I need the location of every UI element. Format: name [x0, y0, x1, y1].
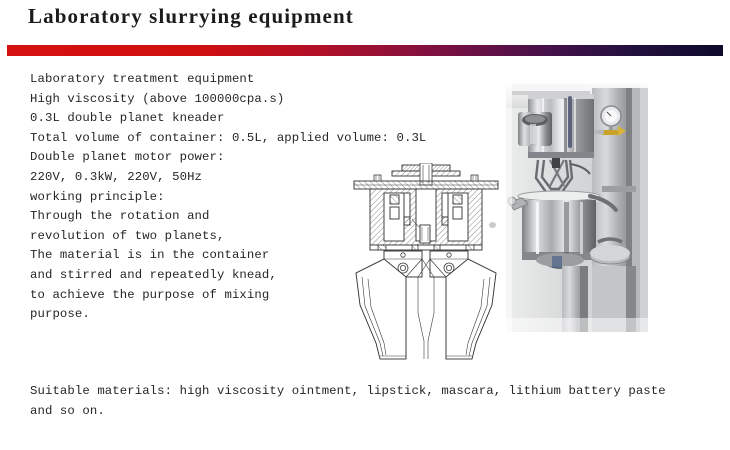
spec-line: purpose. — [30, 305, 370, 325]
equipment-photograph — [506, 60, 648, 332]
accent-divider-bar — [7, 45, 723, 56]
spec-line: Through the rotation and — [30, 207, 370, 227]
spec-line: revolution of two planets, — [30, 227, 370, 247]
spec-line: 0.3L double planet kneader — [30, 109, 370, 129]
spec-line: Total volume of container: 0.5L, applied… — [30, 129, 370, 149]
spec-line: to achieve the purpose of mixing — [30, 286, 370, 306]
mixer-blade-technical-drawing — [340, 163, 512, 368]
suitable-materials-note: Suitable materials: high viscosity ointm… — [30, 382, 702, 421]
spec-line: Laboratory treatment equipment — [30, 70, 370, 90]
spec-line: Double planet motor power: — [30, 148, 370, 168]
footer-line: Suitable materials: high viscosity ointm… — [30, 382, 702, 402]
spec-line: 220V, 0.3kW, 220V, 50Hz — [30, 168, 370, 188]
specification-text-block: Laboratory treatment equipment High visc… — [30, 70, 370, 325]
spec-line: The material is in the container — [30, 246, 370, 266]
image-artifact-speck — [489, 222, 496, 228]
spec-line: High viscosity (above 100000cpa.s) — [30, 90, 370, 110]
spec-line: and stirred and repeatedly knead, — [30, 266, 370, 286]
footer-line: and so on. — [30, 402, 702, 422]
page-title: Laboratory slurrying equipment — [28, 4, 354, 29]
spec-line: working principle: — [30, 188, 370, 208]
